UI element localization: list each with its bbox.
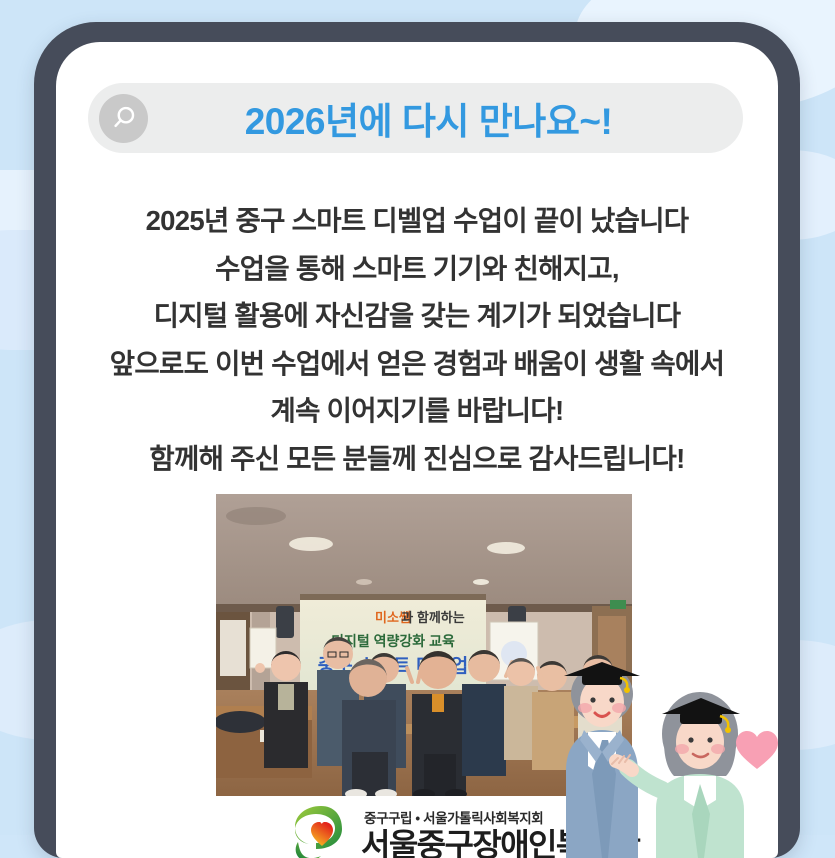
body-line: 앞으로도 이번 수업에서 얻은 경험과 배움이 생활 속에서 bbox=[56, 340, 778, 388]
search-icon[interactable] bbox=[99, 94, 148, 143]
body-paragraph: 2025년 중구 스마트 디벨업 수업이 끝이 났습니다 수업을 통해 스마트 … bbox=[56, 197, 778, 482]
organization-logo: 중구구립 • 서울가톨릭사회복지회 서울중구장애인복지관 bbox=[288, 800, 639, 858]
group-photo: 미소쌤 과 함께하는 디지털 역량강화 교육 중구 스마트 디벨업 bbox=[216, 494, 632, 796]
body-line: 수업을 통해 스마트 기기와 친해지고, bbox=[56, 245, 778, 293]
logo-subtitle: 중구구립 • 서울가톨릭사회복지회 bbox=[361, 807, 639, 827]
body-line: 디지털 활용에 자신감을 갖는 계기가 되었습니다 bbox=[56, 292, 778, 340]
logo-name: 서울중구장애인복지관 bbox=[361, 828, 639, 858]
heart-icon bbox=[734, 728, 778, 772]
svg-text:과 함께하는: 과 함께하는 bbox=[401, 610, 464, 625]
phone-frame: 2026년에 다시 만나요~! 2025년 중구 스마트 디벨업 수업이 끝이 … bbox=[34, 22, 800, 858]
body-line: 2025년 중구 스마트 디벨업 수업이 끝이 났습니다 bbox=[56, 197, 778, 245]
body-line: 계속 이어지기를 바랍니다! bbox=[56, 387, 778, 435]
header-search-bar[interactable]: 2026년에 다시 만나요~! bbox=[88, 83, 743, 153]
body-line: 함께해 주신 모든 분들께 진심으로 감사드립니다! bbox=[56, 435, 778, 483]
page-title: 2026년에 다시 만나요~! bbox=[148, 91, 743, 145]
phone-screen: 2026년에 다시 만나요~! 2025년 중구 스마트 디벨업 수업이 끝이 … bbox=[56, 42, 778, 858]
welfare-center-logo-icon bbox=[288, 800, 352, 858]
